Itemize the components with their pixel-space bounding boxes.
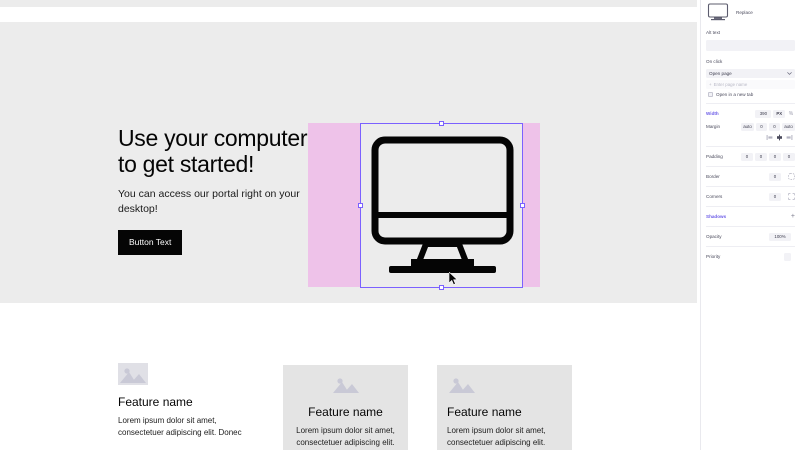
align-center-icon[interactable] <box>776 134 783 141</box>
monitor-icon <box>367 132 518 282</box>
alt-text-label-row: Alt text <box>701 26 800 39</box>
priority-row[interactable]: Priority <box>701 250 800 263</box>
resize-handle-bottom[interactable] <box>439 285 444 290</box>
padding-row[interactable]: Padding 0 0 0 0 <box>701 150 800 163</box>
margin-top-input[interactable]: auto <box>741 123 754 131</box>
feature-card-body: Lorem ipsum dolor sit amet, consectetuer… <box>118 415 251 439</box>
alt-text-label: Alt text <box>706 30 736 35</box>
hero-title-line1: Use your computer <box>118 125 307 151</box>
selected-image-frame[interactable] <box>360 123 523 288</box>
divider <box>706 206 795 207</box>
corners-style-icon[interactable] <box>787 193 795 201</box>
feature-card-body: Lorem ipsum dolor sit amet, consectetuer… <box>293 425 398 450</box>
padding-left-input[interactable]: 0 <box>783 153 795 161</box>
on-click-label: On click <box>706 59 736 64</box>
divider <box>706 246 795 247</box>
width-row[interactable]: Width 390 PX % <box>701 107 800 120</box>
priority-label: Priority <box>706 254 736 259</box>
feature-card-title: Feature name <box>447 405 562 419</box>
add-shadow-icon[interactable]: + <box>791 213 795 220</box>
new-tab-checkbox[interactable] <box>708 92 713 97</box>
resize-handle-right[interactable] <box>520 203 525 208</box>
image-placeholder-icon <box>118 363 148 385</box>
resize-handle-left[interactable] <box>358 203 363 208</box>
border-row[interactable]: Border 0 <box>701 170 800 183</box>
feature-card[interactable]: Feature name Lorem ipsum dolor sit amet,… <box>118 363 251 439</box>
feature-card-title: Feature name <box>293 405 398 419</box>
hero-section[interactable]: Use your computer to get started! You ca… <box>0 22 697 303</box>
corners-row[interactable]: Corners 0 <box>701 190 800 203</box>
page-name-input[interactable]: + Enter page name <box>706 80 795 89</box>
padding-bottom-input[interactable]: 0 <box>769 153 781 161</box>
border-value-input[interactable]: 0 <box>769 173 781 181</box>
corners-label: Corners <box>706 194 736 199</box>
hero-title: Use your computer to get started! <box>118 125 308 177</box>
hero-title-line2: to get started! <box>118 151 254 177</box>
mouse-cursor <box>449 272 459 286</box>
border-label: Border <box>706 174 736 179</box>
monitor-thumbnail-icon <box>706 2 730 22</box>
replace-image-button[interactable]: Replace <box>736 10 753 15</box>
features-section[interactable]: Feature name Lorem ipsum dolor sit amet,… <box>0 303 697 450</box>
margin-row[interactable]: Margin auto 0 0 auto <box>701 120 800 133</box>
image-preview-row: Replace <box>701 0 800 26</box>
on-click-select[interactable]: Open page <box>706 69 795 78</box>
percent-icon[interactable]: % <box>787 110 795 118</box>
properties-panel[interactable]: Replace Alt text On click Open page + En… <box>700 0 800 450</box>
shadows-row[interactable]: Shadows + <box>701 210 800 223</box>
editor-root: Use your computer to get started! You ca… <box>0 0 800 450</box>
padding-top-input[interactable]: 0 <box>741 153 753 161</box>
new-tab-checkbox-row[interactable]: Open in a new tab <box>701 89 800 97</box>
design-canvas[interactable]: Use your computer to get started! You ca… <box>0 0 697 450</box>
width-label: Width <box>706 111 736 116</box>
divider <box>706 226 795 227</box>
divider <box>706 146 795 147</box>
hero-copy-block: Use your computer to get started! You ca… <box>118 125 308 255</box>
on-click-label-row: On click <box>701 55 800 68</box>
panel-scrollbar[interactable] <box>700 0 701 200</box>
opacity-value-input[interactable]: 100% <box>769 233 791 241</box>
site-navbar <box>0 7 697 22</box>
divider <box>706 186 795 187</box>
priority-toggle[interactable] <box>784 253 791 261</box>
alignment-controls[interactable] <box>701 133 800 143</box>
resize-handle-top[interactable] <box>439 121 444 126</box>
divider <box>706 103 795 104</box>
opacity-label: Opacity <box>706 234 736 239</box>
feature-card[interactable]: Feature name Lorem ipsum dolor sit amet,… <box>283 365 408 450</box>
hero-subtitle: You can access our portal right on your … <box>118 187 308 217</box>
divider <box>706 166 795 167</box>
align-right-icon[interactable] <box>786 134 793 141</box>
feature-card-title: Feature name <box>118 395 251 409</box>
margin-right-input[interactable]: 0 <box>756 123 767 131</box>
margin-label: Margin <box>706 124 736 129</box>
image-placeholder-icon <box>447 373 477 395</box>
opacity-row[interactable]: Opacity 100% <box>701 230 800 243</box>
shadows-label: Shadows <box>706 214 736 219</box>
plus-small-icon: + <box>709 82 712 87</box>
margin-bottom-input[interactable]: 0 <box>769 123 780 131</box>
feature-card[interactable]: Feature name Lorem ipsum dolor sit amet,… <box>437 365 572 450</box>
align-left-icon[interactable] <box>766 134 773 141</box>
on-click-value: Open page <box>709 71 732 76</box>
feature-card-body: Lorem ipsum dolor sit amet, consectetuer… <box>447 425 562 450</box>
width-value-input[interactable]: 390 <box>755 110 771 118</box>
width-unit-toggle[interactable]: PX <box>773 110 785 118</box>
padding-right-input[interactable]: 0 <box>755 153 767 161</box>
padding-label: Padding <box>706 154 736 159</box>
border-style-icon[interactable] <box>787 173 795 181</box>
alt-text-input[interactable] <box>706 40 795 51</box>
corners-value-input[interactable]: 0 <box>769 193 781 201</box>
chevron-down-icon <box>787 71 792 76</box>
new-tab-label: Open in a new tab <box>716 92 753 97</box>
image-placeholder-icon <box>331 373 361 395</box>
margin-left-input[interactable]: auto <box>782 123 795 131</box>
page-name-placeholder: Enter page name <box>714 82 748 87</box>
hero-cta-button[interactable]: Button Text <box>118 230 182 255</box>
